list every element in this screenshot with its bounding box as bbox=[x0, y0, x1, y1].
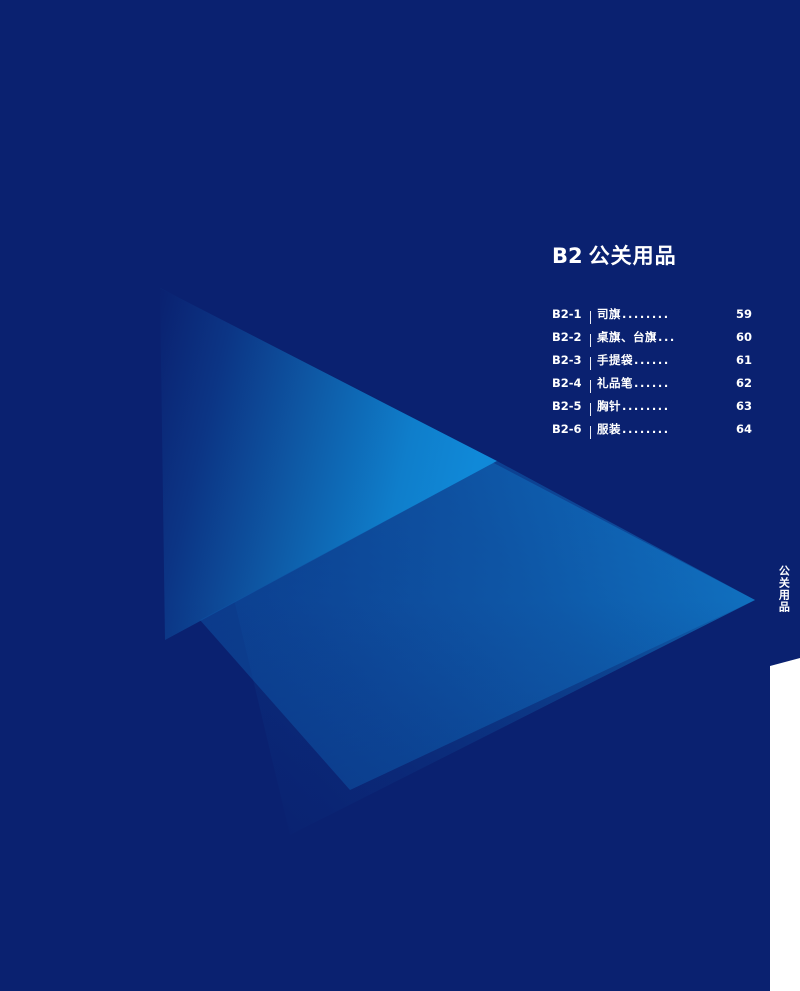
toc-separator-bar bbox=[590, 380, 591, 393]
toc-page-number: 61 bbox=[736, 353, 752, 367]
toc-dot-leader: ...... bbox=[634, 353, 735, 367]
toc-page-number: 63 bbox=[736, 399, 752, 413]
toc-dot-leader: ........ bbox=[622, 307, 735, 321]
toc-code: B2-4 bbox=[552, 376, 588, 390]
list-item[interactable]: B2-5 胸针 ........ 63 bbox=[552, 398, 752, 421]
side-index-tab: 公关用品 bbox=[766, 0, 800, 666]
toc-dot-leader: ...... bbox=[634, 376, 735, 390]
table-of-contents: B2-1 司旗 ........ 59 B2-2 桌旗、台旗 ... 60 B2… bbox=[552, 306, 752, 444]
list-item[interactable]: B2-1 司旗 ........ 59 bbox=[552, 306, 752, 329]
toc-code: B2-1 bbox=[552, 307, 588, 321]
list-item[interactable]: B2-2 桌旗、台旗 ... 60 bbox=[552, 329, 752, 352]
toc-code: B2-3 bbox=[552, 353, 588, 367]
toc-code: B2-6 bbox=[552, 422, 588, 436]
toc-entry-name: 服装 bbox=[597, 421, 621, 437]
toc-separator-bar bbox=[590, 357, 591, 370]
toc-dot-leader: ... bbox=[658, 330, 735, 344]
section-contents-block: B2公关用品 B2-1 司旗 ........ 59 B2-2 桌旗、台旗 ..… bbox=[552, 240, 752, 444]
toc-dot-leader: ........ bbox=[622, 422, 735, 436]
toc-separator-bar bbox=[590, 426, 591, 439]
toc-entry-name: 礼品笔 bbox=[597, 375, 633, 391]
page-title-label: 公关用品 bbox=[589, 244, 677, 268]
toc-page-number: 59 bbox=[736, 307, 752, 321]
toc-page-number: 64 bbox=[736, 422, 752, 436]
catalog-section-divider-page: 公关用品 B2公关用品 B2-1 司旗 ........ 59 B2-2 桌旗、… bbox=[0, 0, 800, 991]
toc-separator-bar bbox=[590, 403, 591, 416]
toc-separator-bar bbox=[590, 334, 591, 347]
page-title-code: B2 bbox=[552, 244, 583, 268]
toc-page-number: 62 bbox=[736, 376, 752, 390]
list-item[interactable]: B2-4 礼品笔 ...... 62 bbox=[552, 375, 752, 398]
toc-code: B2-5 bbox=[552, 399, 588, 413]
page-background bbox=[0, 0, 800, 991]
toc-separator-bar bbox=[590, 311, 591, 324]
toc-entry-name: 司旗 bbox=[597, 306, 621, 322]
toc-page-number: 60 bbox=[736, 330, 752, 344]
toc-code: B2-2 bbox=[552, 330, 588, 344]
page-title: B2公关用品 bbox=[552, 240, 752, 270]
toc-entry-name: 手提袋 bbox=[597, 352, 633, 368]
side-index-tab-label: 公关用品 bbox=[777, 565, 790, 613]
list-item[interactable]: B2-6 服装 ........ 64 bbox=[552, 421, 752, 444]
toc-entry-name: 桌旗、台旗 bbox=[597, 329, 657, 345]
list-item[interactable]: B2-3 手提袋 ...... 61 bbox=[552, 352, 752, 375]
toc-entry-name: 胸针 bbox=[597, 398, 621, 414]
toc-dot-leader: ........ bbox=[622, 399, 735, 413]
